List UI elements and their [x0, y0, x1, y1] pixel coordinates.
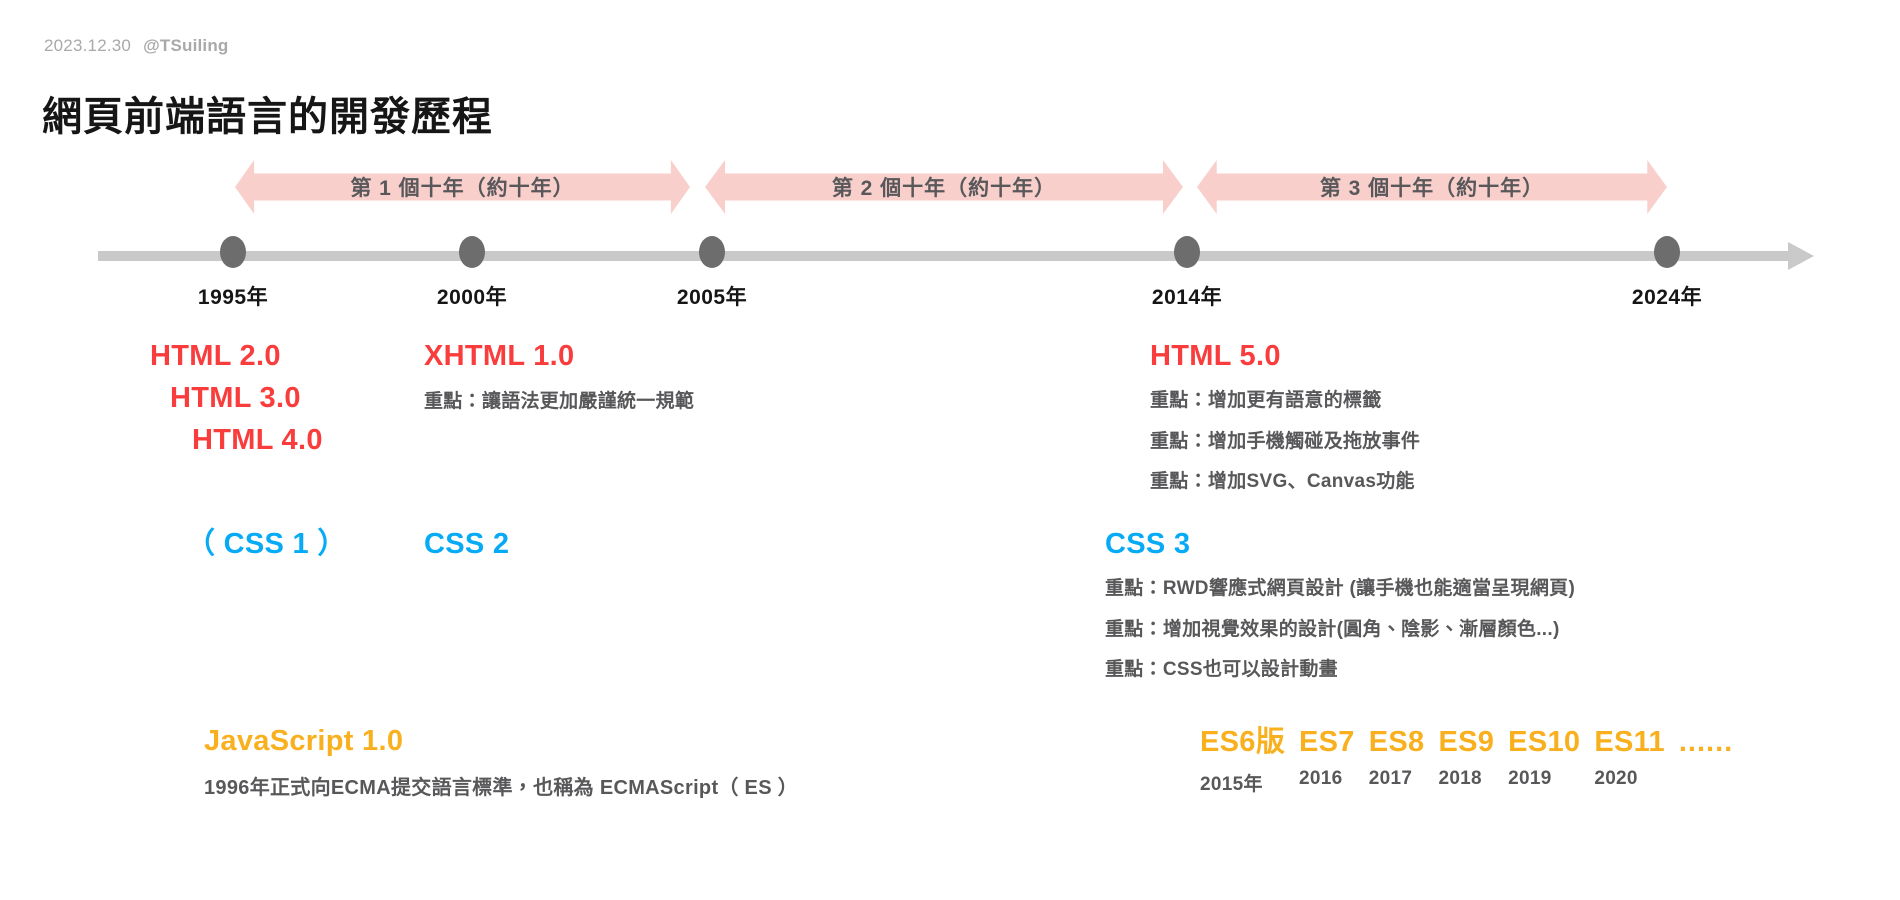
es-name-label: ES6版	[1200, 718, 1285, 760]
html5-note-1: 重點：增加更有語意的標籤	[1150, 385, 1420, 418]
html5-note-3: 重點：增加SVG、Canvas功能	[1150, 466, 1420, 499]
es-col-es11: ES11 2020	[1594, 726, 1665, 790]
decade-band-3: 第 3 個十年（約十年）	[1197, 160, 1667, 214]
html-2-label: HTML 2.0	[150, 335, 323, 377]
es-col-more: ......	[1679, 726, 1733, 768]
es-col-es6: ES6版 2015年	[1200, 718, 1285, 796]
decade-label-2: 第 2 個十年（約十年）	[832, 172, 1056, 202]
es-col-es8: ES8 2017	[1369, 726, 1425, 790]
author-handle: @TSuiling	[143, 36, 228, 55]
html-early-versions-group: HTML 2.0 HTML 3.0 HTML 4.0	[150, 335, 323, 461]
css3-note-3: 重點：CSS也可以設計動畫	[1105, 654, 1575, 687]
timeline-axis: 1995年 2000年 2005年 2014年 2024年	[98, 251, 1814, 261]
xhtml-group: XHTML 1.0 重點：讓語法更加嚴謹統一規範	[424, 335, 694, 419]
timeline-year-label: 2014年	[1152, 281, 1222, 311]
es-year-label: 2015年	[1200, 769, 1285, 796]
css1-group: （ CSS 1 ）	[186, 523, 347, 565]
css1-title: （ CSS 1 ）	[186, 523, 347, 565]
es-col-es10: ES10 2019	[1508, 726, 1580, 790]
timeline-dot-icon	[220, 236, 246, 268]
timeline-dot-icon	[699, 236, 725, 268]
css3-note-2: 重點：增加視覺效果的設計(圓角、陰影、漸層顏色...)	[1105, 614, 1575, 647]
ecmascript-version-row: ES6版 2015年 ES7 2016 ES8 2017 ES9 2018 ES…	[1200, 718, 1733, 796]
javascript-note: 1996年正式向ECMA提交語言標準，也稱為 ECMAScript（ ES ）	[204, 771, 798, 805]
decade-label-3: 第 3 個十年（約十年）	[1320, 172, 1544, 202]
page-title: 網頁前端語言的開發歷程	[42, 84, 493, 142]
html5-group: HTML 5.0 重點：增加更有語意的標籤 重點：增加手機觸碰及拖放事件 重點：…	[1150, 335, 1420, 499]
html-3-label: HTML 3.0	[170, 377, 323, 419]
timeline-year-label: 2005年	[677, 281, 747, 311]
header-meta: 2023.12.30@TSuiling	[44, 36, 229, 56]
html5-note-2: 重點：增加手機觸碰及拖放事件	[1150, 426, 1420, 459]
es-name-label: ES9	[1438, 726, 1494, 759]
es-name-label: ES11	[1594, 726, 1665, 759]
es-year-label: 2020	[1594, 768, 1665, 790]
publish-date: 2023.12.30	[44, 36, 131, 55]
decade-band-1: 第 1 個十年（約十年）	[235, 160, 690, 214]
css2-group: CSS 2	[424, 523, 509, 565]
css3-title: CSS 3	[1105, 523, 1575, 565]
html-4-label: HTML 4.0	[192, 419, 323, 461]
timeline-year-label: 2024年	[1632, 281, 1702, 311]
xhtml-title: XHTML 1.0	[424, 335, 694, 377]
es-year-label: 2016	[1299, 768, 1355, 790]
decade-label-1: 第 1 個十年（約十年）	[350, 172, 574, 202]
es-name-label: ES10	[1508, 726, 1580, 759]
es-col-es9: ES9 2018	[1438, 726, 1494, 790]
axis-line	[98, 251, 1788, 261]
es-col-es7: ES7 2016	[1299, 726, 1355, 790]
arrow-right-icon	[1788, 242, 1814, 270]
timeline-year-label: 2000年	[437, 281, 507, 311]
es-year-label: 2017	[1369, 768, 1425, 790]
css3-note-1: 重點：RWD響應式網頁設計 (讓手機也能適當呈現網頁)	[1105, 573, 1575, 606]
timeline-year-label: 1995年	[198, 281, 268, 311]
decade-band-2: 第 2 個十年（約十年）	[705, 160, 1183, 214]
javascript-group: JavaScript 1.0 1996年正式向ECMA提交語言標準，也稱為 EC…	[204, 720, 798, 805]
css3-group: CSS 3 重點：RWD響應式網頁設計 (讓手機也能適當呈現網頁) 重點：增加視…	[1105, 523, 1575, 687]
es-name-label: ES7	[1299, 726, 1355, 759]
es-more-label: ......	[1679, 726, 1733, 759]
html5-title: HTML 5.0	[1150, 335, 1420, 377]
css2-title: CSS 2	[424, 523, 509, 565]
ecmascript-versions-group: ES6版 2015年 ES7 2016 ES8 2017 ES9 2018 ES…	[1200, 718, 1733, 796]
timeline-dot-icon	[1174, 236, 1200, 268]
javascript-title: JavaScript 1.0	[204, 720, 798, 762]
es-year-label: 2018	[1438, 768, 1494, 790]
xhtml-note-1: 重點：讓語法更加嚴謹統一規範	[424, 386, 694, 419]
timeline-dot-icon	[459, 236, 485, 268]
es-year-label: 2019	[1508, 768, 1580, 790]
timeline-dot-icon	[1654, 236, 1680, 268]
es-name-label: ES8	[1369, 726, 1425, 759]
